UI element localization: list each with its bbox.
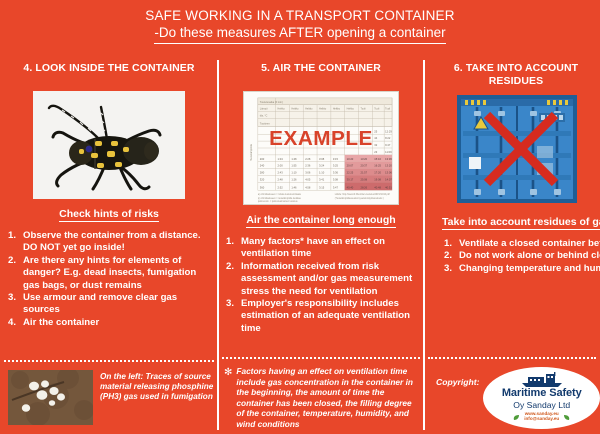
svg-text:3:24: 3:24 — [319, 164, 325, 168]
svg-text:9:47: 9:47 — [385, 143, 391, 147]
maritime-safety-logo: Maritime Safety Oy Sanday Ltd www.sanday… — [483, 367, 600, 429]
svg-text:21:57: 21:57 — [360, 171, 367, 175]
svg-text:3:15: 3:15 — [319, 185, 325, 189]
svg-text:3:36: 3:36 — [333, 171, 339, 175]
svg-text:320: 320 — [260, 177, 265, 181]
svg-text:Tuotteen: Tuotteen — [260, 121, 271, 125]
svg-text:28:26: 28:26 — [360, 185, 367, 189]
footnote-ventilation-factors: Factors having an effect on ventilation … — [236, 366, 418, 434]
svg-text:2:52: 2:52 — [278, 185, 284, 189]
list-item: Many factors* have an effect on ventilat… — [226, 236, 422, 261]
svg-text:p) ohimittaukseen = tuotelämpö: p) ohimittaukseen = tuotelämpötila luokk… — [258, 197, 302, 200]
svg-text:2:00: 2:00 — [278, 164, 284, 168]
svg-text:2:28: 2:28 — [305, 157, 311, 161]
svg-text:30:17: 30:17 — [347, 177, 354, 181]
svg-text:22:25: 22:25 — [347, 171, 354, 175]
footer-caption-1: On the left: Traces of source material r… — [100, 370, 214, 434]
leaf-icon — [513, 414, 520, 421]
svg-text:Tuuli: Tuuli — [374, 108, 380, 111]
footer-column-2: ✻ Factors having an effect on ventilatio… — [218, 361, 424, 434]
svg-text:15:10: 15:10 — [374, 157, 381, 161]
poster-header: SAFE WORKING IN A TRANSPORT CONTAINER -D… — [0, 0, 600, 44]
list-item: Are there any hints for elements of dang… — [8, 255, 212, 292]
svg-text:13:36: 13:36 — [385, 157, 392, 161]
svg-text:EXAMPLE: EXAMPLE — [269, 127, 373, 150]
column-residues: 6. TAKE INTO ACCOUNT RESIDUES — [424, 58, 600, 434]
svg-text:16:25: 16:25 — [374, 164, 381, 168]
list-item: Observe the container from a distance. D… — [8, 230, 212, 255]
column-heading-6: 6. TAKE INTO ACCOUNT RESIDUES — [424, 58, 600, 88]
container-graphic-wrap — [424, 91, 600, 207]
dotted-divider-2 — [222, 357, 420, 359]
ship-icon — [520, 371, 564, 388]
svg-text:3:41: 3:41 — [319, 177, 325, 181]
svg-text:(Tuotelämpötilaosuuksi kyseisi: (Tuotelämpötilaosuuksi kyseisiä käyttöan… — [335, 197, 384, 200]
svg-text:200: 200 — [260, 157, 265, 161]
svg-text:17:20: 17:20 — [374, 171, 381, 175]
svg-text:Tuuli: Tuuli — [385, 108, 391, 111]
svg-text:4:58: 4:58 — [305, 185, 311, 189]
list-item: Ventilate a closed container before ente… — [444, 238, 600, 250]
svg-text:25:08: 25:08 — [360, 177, 367, 181]
column-air-container: 5. AIR THE CONTAINER — [218, 58, 424, 434]
poster-root: SAFE WORKING IN A TRANSPORT CONTAINER -D… — [0, 0, 600, 434]
list-item: Do not work alone or behind closed doors… — [444, 250, 600, 262]
svg-text:2:43: 2:43 — [278, 171, 284, 175]
column-subheading-4: Check hints of risks — [0, 208, 218, 222]
svg-text:1:55: 1:55 — [291, 164, 297, 168]
svg-text:1:10: 1:10 — [319, 171, 325, 175]
list-item: Employer's responsibility includes estim… — [226, 298, 422, 335]
svg-text:13:06: 13:06 — [385, 171, 392, 175]
points-list-4: Observe the container from a distance. D… — [0, 230, 218, 329]
svg-text:Heikko: Heikko — [333, 108, 341, 111]
ventilation-time-table: Tuuletusaika (h:min) Lämpö tila, °C Tuot… — [243, 91, 399, 205]
points-list-5: Many factors* have an effect on ventilat… — [218, 236, 424, 335]
logo-contact: www.sanday.eu info@sanday.eu — [524, 411, 559, 422]
svg-text:1:48: 1:48 — [291, 157, 297, 161]
svg-text:tila, °C: tila, °C — [260, 114, 268, 118]
svg-text:14:07: 14:07 — [385, 177, 392, 181]
beetle-photo — [33, 91, 185, 199]
svg-text:4:05: 4:05 — [305, 177, 311, 181]
svg-text:12:29: 12:29 — [385, 129, 392, 133]
svg-text:1:04: 1:04 — [278, 157, 284, 161]
footer-column-3: Copyright: — [424, 361, 600, 434]
page-title: SAFE WORKING IN A TRANSPORT CONTAINER — [0, 7, 600, 24]
svg-text:360: 360 — [260, 185, 265, 189]
list-item: Air the container — [8, 317, 212, 329]
svg-text:8:22: 8:22 — [385, 136, 391, 140]
column-heading-4: 4. LOOK INSIDE THE CONTAINER — [0, 58, 218, 88]
svg-text:Heikko: Heikko — [347, 108, 355, 111]
column-look-inside: 4. LOOK INSIDE THE CONTAINER — [0, 58, 218, 434]
svg-text:Tuuli: Tuuli — [360, 108, 366, 111]
column-subheading-6: Take into account residues of gas — [436, 216, 600, 230]
svg-text:1:10: 1:10 — [291, 171, 297, 175]
logo-title: Maritime Safety — [502, 387, 582, 399]
svg-text:Heikko: Heikko — [319, 108, 327, 111]
svg-text:3:47: 3:47 — [333, 185, 339, 189]
svg-text:19:08: 19:08 — [374, 177, 381, 181]
ventilation-table-wrap: Tuuletusaika (h:min) Lämpö tila, °C Tuot… — [218, 91, 424, 205]
svg-text:Tuuletusaika (h:min): Tuuletusaika (h:min) — [260, 100, 283, 104]
svg-text:10:20: 10:20 — [347, 157, 354, 161]
svg-text:Heikko: Heikko — [278, 108, 286, 111]
svg-text:3:08: 3:08 — [333, 177, 339, 181]
svg-text:Heikko: Heikko — [291, 108, 299, 111]
svg-text:2:36: 2:36 — [305, 164, 311, 168]
column-heading-5: 5. AIR THE CONTAINER — [218, 58, 424, 88]
svg-text:11:09: 11:09 — [385, 150, 392, 154]
svg-text:40:51: 40:51 — [385, 185, 392, 189]
svg-text:20:07: 20:07 — [347, 164, 354, 168]
columns-area: 4. LOOK INSIDE THE CONTAINER — [0, 58, 600, 434]
svg-text:40:40: 40:40 — [347, 185, 354, 189]
points-list-6: Ventilate a closed container before ente… — [424, 238, 600, 275]
svg-text:13:20: 13:20 — [360, 157, 367, 161]
svg-text:2:48: 2:48 — [278, 177, 284, 181]
svg-text:280: 280 — [260, 171, 265, 175]
svg-text:3:06: 3:06 — [305, 171, 311, 175]
beetle-photo-wrap — [0, 91, 218, 199]
asterisk-marker-icon: ✻ — [224, 366, 232, 434]
svg-text:20:37: 20:37 — [360, 164, 367, 168]
logo-subtitle: Oy Sanday Ltd — [513, 400, 570, 410]
column-subheading-5: Air the container long enough — [218, 214, 424, 228]
svg-text:3:25: 3:25 — [333, 164, 339, 168]
svg-text:40:48: 40:48 — [374, 185, 381, 189]
svg-text:1:26: 1:26 — [291, 177, 297, 181]
phosphine-residue-photo — [8, 370, 93, 425]
svg-text:a) ohimittaukseen = mitata tuu: a) ohimittaukseen = mitata tuuletusmitta… — [258, 193, 302, 196]
svg-text:Lähde: http://www.ttl.fi/kontt: Lähde: http://www.ttl.fi/konttien-tuulet… — [335, 193, 390, 196]
copyright-label: Copyright: — [432, 367, 483, 387]
svg-text:1:46: 1:46 — [291, 185, 297, 189]
dotted-divider-1 — [4, 360, 214, 362]
page-subtitle: -Do these measures AFTER opening a conta… — [154, 24, 445, 44]
logo-email[interactable]: info@sanday.eu — [524, 416, 559, 421]
dotted-divider-3 — [428, 357, 596, 359]
list-item: Changing temperature and humidity as wel… — [444, 263, 600, 275]
svg-text:240: 240 — [260, 164, 265, 168]
svg-text:Tuotelämpötila: Tuotelämpötila — [249, 144, 253, 161]
svg-text:3:15: 3:15 — [333, 157, 339, 161]
list-item: Information received from risk assessmen… — [226, 261, 422, 298]
svg-text:3:08: 3:08 — [319, 157, 325, 161]
svg-text:Heikko: Heikko — [305, 108, 313, 111]
svg-text:Lämpö: Lämpö — [260, 107, 268, 111]
list-item: Use armour and remove clear gas sources — [8, 292, 212, 317]
svg-text:palmuvoim. = palmoisatmainen t: palmuvoim. = palmoisatmainen tuuletus — [258, 200, 299, 203]
closed-container-forbidden — [455, 91, 579, 207]
svg-text:13:20: 13:20 — [385, 164, 392, 168]
leaf-icon — [563, 414, 570, 421]
footer-column-1: On the left: Traces of source material r… — [0, 364, 218, 434]
